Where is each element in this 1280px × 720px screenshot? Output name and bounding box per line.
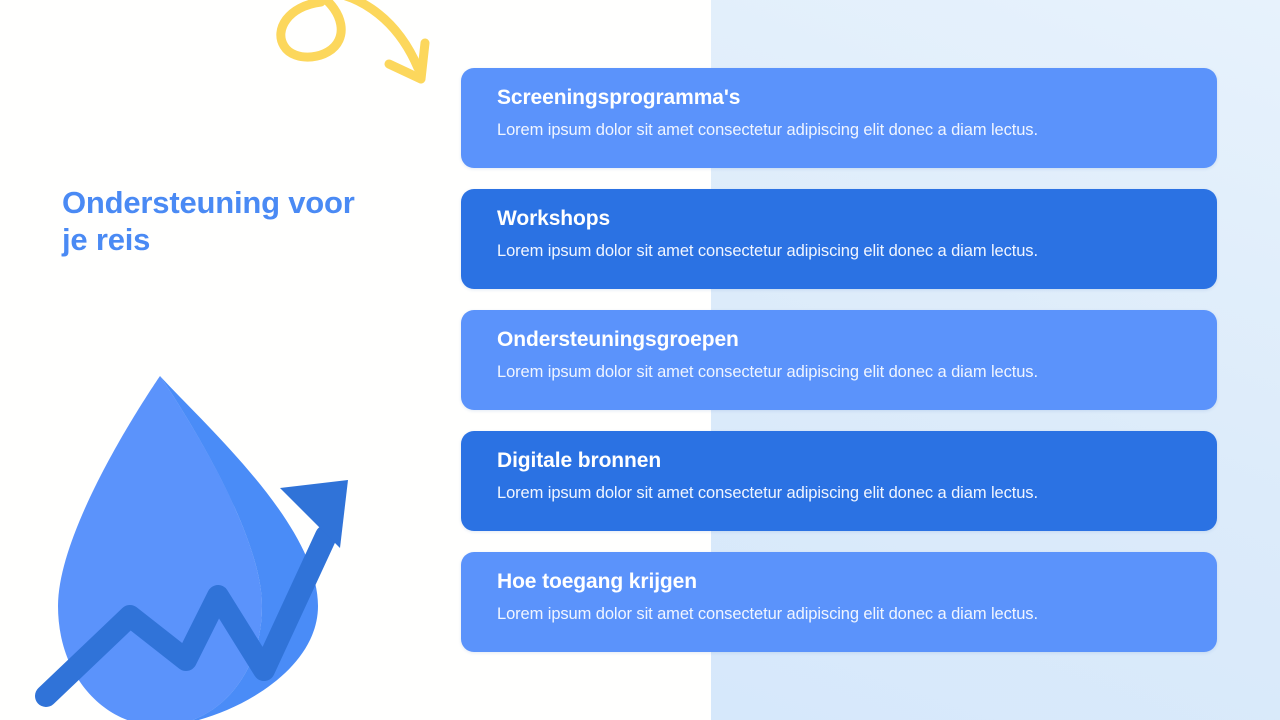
cards-list: Screeningsprogramma's Lorem ipsum dolor … bbox=[461, 68, 1217, 652]
card-title: Workshops bbox=[497, 206, 1183, 232]
card-description: Lorem ipsum dolor sit amet consectetur a… bbox=[497, 604, 1183, 625]
list-item[interactable]: Workshops Lorem ipsum dolor sit amet con… bbox=[461, 189, 1217, 289]
list-item[interactable]: Screeningsprogramma's Lorem ipsum dolor … bbox=[461, 68, 1217, 168]
curved-loop-arrow-icon bbox=[258, 0, 448, 101]
slide-canvas: Ondersteuning voor je reis Screeningspro… bbox=[0, 0, 1280, 720]
card-title: Digitale bronnen bbox=[497, 448, 1183, 474]
water-drop-with-growth-arrow-icon bbox=[18, 358, 388, 720]
list-item[interactable]: Ondersteuningsgroepen Lorem ipsum dolor … bbox=[461, 310, 1217, 410]
card-description: Lorem ipsum dolor sit amet consectetur a… bbox=[497, 120, 1183, 141]
card-title: Screeningsprogramma's bbox=[497, 85, 1183, 111]
card-description: Lorem ipsum dolor sit amet consectetur a… bbox=[497, 483, 1183, 504]
page-title: Ondersteuning voor je reis bbox=[62, 185, 452, 258]
card-description: Lorem ipsum dolor sit amet consectetur a… bbox=[497, 241, 1183, 262]
list-item[interactable]: Hoe toegang krijgen Lorem ipsum dolor si… bbox=[461, 552, 1217, 652]
card-title: Hoe toegang krijgen bbox=[497, 569, 1183, 595]
card-title: Ondersteuningsgroepen bbox=[497, 327, 1183, 353]
card-description: Lorem ipsum dolor sit amet consectetur a… bbox=[497, 362, 1183, 383]
list-item[interactable]: Digitale bronnen Lorem ipsum dolor sit a… bbox=[461, 431, 1217, 531]
